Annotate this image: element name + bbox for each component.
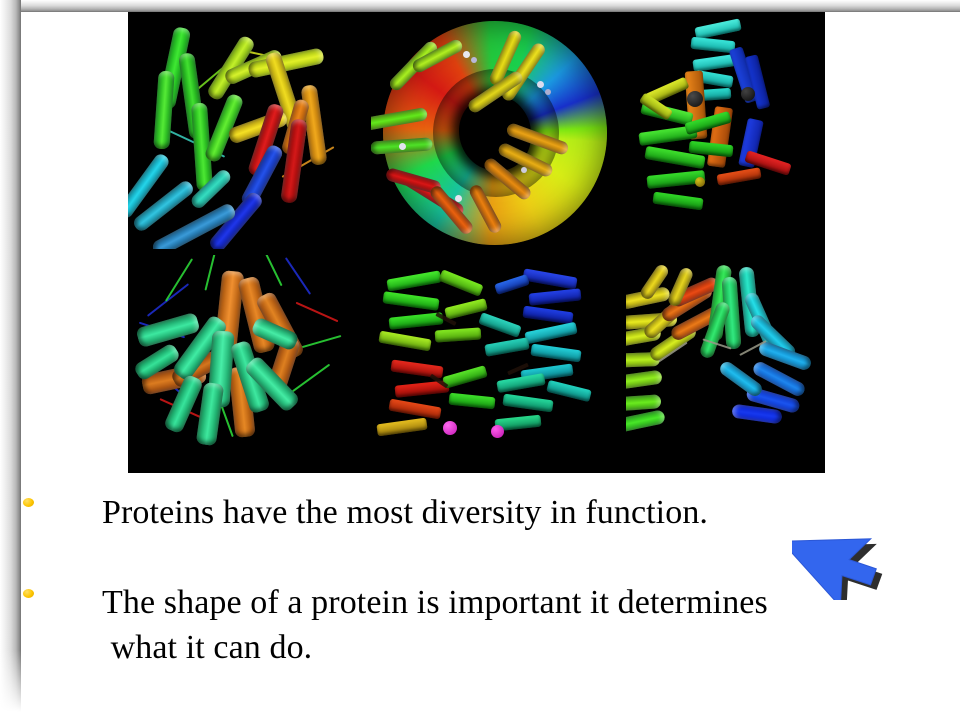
- ribbon-segment: [524, 322, 577, 345]
- ribbon-segment: [442, 365, 488, 389]
- heme-sphere: [443, 421, 457, 435]
- ribbon-segment: [382, 291, 439, 311]
- ribbon-segment: [388, 399, 441, 420]
- helix-cylinder: [626, 409, 666, 433]
- loop-strand: [285, 257, 311, 295]
- protein-structure-montage: [128, 11, 825, 473]
- heme-sphere: [491, 425, 504, 438]
- round-bullet-icon: [23, 589, 34, 598]
- loop-strand: [296, 302, 339, 323]
- ribbon-segment: [530, 344, 581, 363]
- panel-bottom-left: [128, 255, 368, 473]
- ligand-sphere: [471, 57, 477, 63]
- slide-frame-left-fade: [0, 650, 21, 720]
- presentation-slide: Proteins have the most diversity in func…: [0, 0, 960, 720]
- panel-bottom-right: [626, 255, 825, 473]
- ribbon-segment: [652, 192, 703, 211]
- helix-cylinder: [153, 71, 174, 150]
- ligand-sphere: [455, 195, 462, 202]
- ribbon-segment: [376, 418, 427, 437]
- ribbon-segment: [529, 288, 582, 305]
- ribbon-segment: [438, 269, 483, 297]
- ligand-sphere: [537, 81, 544, 88]
- ribbon-segment: [522, 306, 573, 325]
- ligand-sphere: [741, 87, 755, 101]
- ligand-sphere: [687, 91, 703, 107]
- ribbon-segment: [716, 167, 761, 185]
- round-bullet-icon: [23, 498, 34, 507]
- helix-cylinder: [280, 118, 308, 203]
- ribbon-segment: [522, 268, 577, 289]
- panel-top-left: [128, 11, 364, 249]
- ribbon-segment: [502, 394, 553, 413]
- ribbon-segment: [478, 312, 522, 338]
- ligand-sphere: [399, 143, 406, 150]
- ligand-sphere: [545, 89, 551, 95]
- slide-frame-left: [0, 0, 21, 720]
- ligand-sphere: [463, 51, 470, 58]
- ribbon-segment: [378, 331, 431, 352]
- ribbon-segment: [484, 337, 529, 356]
- ligand-sphere: [695, 177, 705, 187]
- ribbon-segment: [694, 18, 741, 39]
- ribbon-segment: [386, 270, 441, 291]
- ribbon-segment: [496, 373, 545, 393]
- loop-strand: [299, 335, 342, 349]
- slide-frame-top: [0, 0, 960, 12]
- loop-strand: [292, 364, 330, 393]
- loop-strand: [147, 283, 189, 317]
- ribbon-segment: [435, 327, 482, 342]
- bullet-text-1: Proteins have the most diversity in func…: [102, 490, 960, 535]
- ribbon-segment: [692, 54, 735, 72]
- bullet-text-2: The shape of a protein is important it d…: [102, 580, 960, 670]
- panel-top-right: [633, 11, 825, 259]
- helix-cylinder: [626, 370, 663, 391]
- ribbon-segment: [494, 274, 530, 295]
- loop-strand: [204, 255, 217, 291]
- ligand-sphere: [521, 167, 527, 173]
- panel-top-middle: [371, 11, 621, 259]
- helix-cylinder: [196, 382, 224, 446]
- panel-bottom-middle: [373, 255, 621, 473]
- loop-strand: [165, 258, 193, 301]
- loop-strand: [261, 255, 282, 286]
- helix-cylinder: [626, 394, 661, 412]
- ribbon-segment: [448, 393, 495, 410]
- ribbon-segment: [546, 380, 592, 402]
